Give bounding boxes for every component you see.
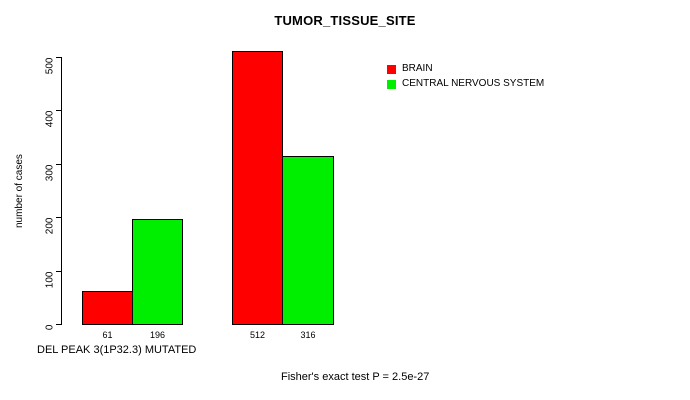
y-tick-label-300: 300 <box>45 165 56 197</box>
bar-value-label-3: 512 <box>232 330 283 340</box>
bar-cns-group-2[interactable] <box>282 156 334 325</box>
bar-value-label-1: 61 <box>82 330 133 340</box>
y-tick-500 <box>56 57 61 58</box>
y-tick-label-500: 500 <box>45 58 56 90</box>
y-tick-label-100: 100 <box>45 272 56 304</box>
bar-chart-figure: TUMOR_TISSUE_SITE 0 100 200 300 400 500 … <box>0 0 690 400</box>
y-tick-300 <box>56 164 61 165</box>
y-axis-title: number of cases <box>14 154 25 228</box>
legend-swatch-cns <box>387 80 396 89</box>
y-axis-line <box>61 57 62 325</box>
bar-brain-group-1[interactable] <box>82 291 133 325</box>
y-tick-100 <box>56 271 61 272</box>
bar-value-label-2: 196 <box>132 330 183 340</box>
legend-label-brain: BRAIN <box>402 62 433 75</box>
x-axis-title: DEL PEAK 3(1P32.3) MUTATED <box>37 344 196 356</box>
y-tick-0 <box>56 324 61 325</box>
y-tick-200 <box>56 217 61 218</box>
legend-label-cns: CENTRAL NERVOUS SYSTEM <box>402 77 544 90</box>
statistical-test-annotation: Fisher's exact test P = 2.5e-27 <box>281 371 429 383</box>
bar-cns-group-1[interactable] <box>132 219 183 325</box>
bar-value-label-4: 316 <box>282 330 334 340</box>
y-tick-label-400: 400 <box>45 111 56 143</box>
plot-area: 0 100 200 300 400 500 number of cases 61… <box>0 0 690 400</box>
legend-swatch-brain <box>387 65 396 74</box>
y-tick-label-200: 200 <box>45 218 56 250</box>
y-tick-400 <box>56 110 61 111</box>
bar-brain-group-2[interactable] <box>232 51 283 325</box>
